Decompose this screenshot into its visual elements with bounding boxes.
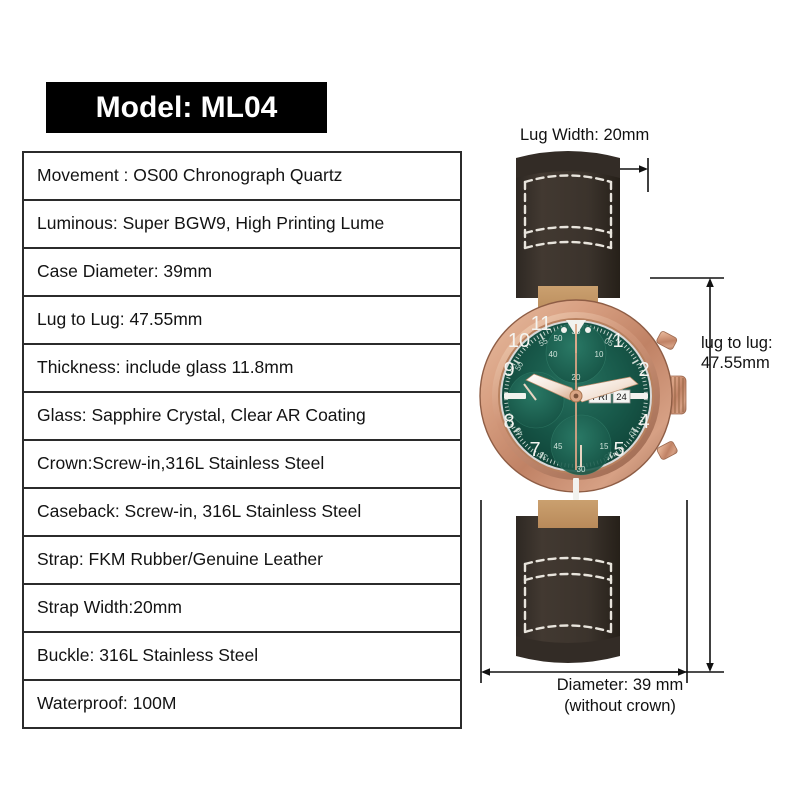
spec-row-label: Strap Width:20mm [37, 599, 182, 617]
specification-table: Movement : OS00 Chronograph Quartz Lumin… [22, 151, 462, 729]
model-title-bar: Model: ML04 [46, 82, 327, 133]
watch-strap-lower [516, 516, 620, 663]
table-row: Lug to Lug: 47.55mm [24, 297, 460, 345]
watch-illustration-area: Lug Width: 20mm lug to lug: 47.55mm [470, 110, 800, 750]
watch-strap-upper [516, 151, 620, 298]
table-row: Strap Width:20mm [24, 585, 460, 633]
table-row: Movement : OS00 Chronograph Quartz [24, 153, 460, 201]
svg-text:11: 11 [531, 313, 552, 335]
lug-to-lug-label-line2: 47.55mm [701, 353, 773, 373]
svg-text:8: 8 [503, 411, 514, 433]
spec-sheet-page: Model: ML04 Movement : OS00 Chronograph … [0, 0, 800, 800]
diameter-label-line2: (without crown) [470, 696, 770, 717]
date-text: 24 [616, 392, 627, 403]
spec-row-label: Buckle: 316L Stainless Steel [37, 647, 258, 665]
page-title: Model: ML04 [96, 91, 278, 125]
svg-text:10: 10 [595, 350, 604, 359]
watch-product-image: 05202535405055 30 10 20 40 50 [478, 148, 708, 668]
spec-row-label: Glass: Sapphire Crystal, Clear AR Coatin… [37, 407, 366, 425]
table-row: Caseback: Screw-in, 316L Stainless Steel [24, 489, 460, 537]
table-row: Strap: FKM Rubber/Genuine Leather [24, 537, 460, 585]
table-row: Waterproof: 100M [24, 681, 460, 729]
svg-text:9: 9 [503, 359, 514, 381]
svg-text:10: 10 [508, 330, 530, 352]
lug-to-lug-label-line1: lug to lug: [701, 333, 773, 353]
diameter-label: Diameter: 39 mm (without crown) [470, 675, 770, 718]
nine-marker [504, 393, 526, 399]
spec-row-label: Thickness: include glass 11.8mm [37, 359, 293, 377]
spec-row-label: Movement : OS00 Chronograph Quartz [37, 167, 342, 185]
spec-row-label: Strap: FKM Rubber/Genuine Leather [37, 551, 323, 569]
table-row: Case Diameter: 39mm [24, 249, 460, 297]
diameter-label-line1: Diameter: 39 mm [470, 675, 770, 696]
table-row: Crown:Screw-in,316L Stainless Steel [24, 441, 460, 489]
svg-text:15: 15 [600, 442, 609, 451]
svg-text:45: 45 [554, 442, 563, 451]
spec-row-label: Luminous: Super BGW9, High Printing Lume [37, 215, 384, 233]
svg-text:1: 1 [612, 330, 623, 352]
table-row: Buckle: 316L Stainless Steel [24, 633, 460, 681]
six-marker [573, 478, 579, 500]
lug-to-lug-label: lug to lug: 47.55mm [701, 333, 773, 373]
spec-row-label: Crown:Screw-in,316L Stainless Steel [37, 455, 324, 473]
svg-text:7: 7 [529, 439, 540, 461]
table-row: Luminous: Super BGW9, High Printing Lume [24, 201, 460, 249]
svg-text:4: 4 [638, 411, 649, 433]
svg-text:2: 2 [638, 359, 649, 381]
spec-row-label: Case Diameter: 39mm [37, 263, 212, 281]
lug-width-label: Lug Width: 20mm [520, 126, 649, 145]
spec-row-label: Waterproof: 100M [37, 695, 176, 713]
spec-row-label: Caseback: Screw-in, 316L Stainless Steel [37, 503, 361, 521]
svg-text:50: 50 [554, 334, 563, 343]
subdial-bottom: 15 30 45 [551, 415, 611, 475]
svg-text:5: 5 [613, 439, 624, 461]
svg-text:40: 40 [549, 350, 558, 359]
spec-row-label: Lug to Lug: 47.55mm [37, 311, 202, 329]
table-row: Glass: Sapphire Crystal, Clear AR Coatin… [24, 393, 460, 441]
table-row: Thickness: include glass 11.8mm [24, 345, 460, 393]
lug-bar-lower [538, 500, 598, 528]
